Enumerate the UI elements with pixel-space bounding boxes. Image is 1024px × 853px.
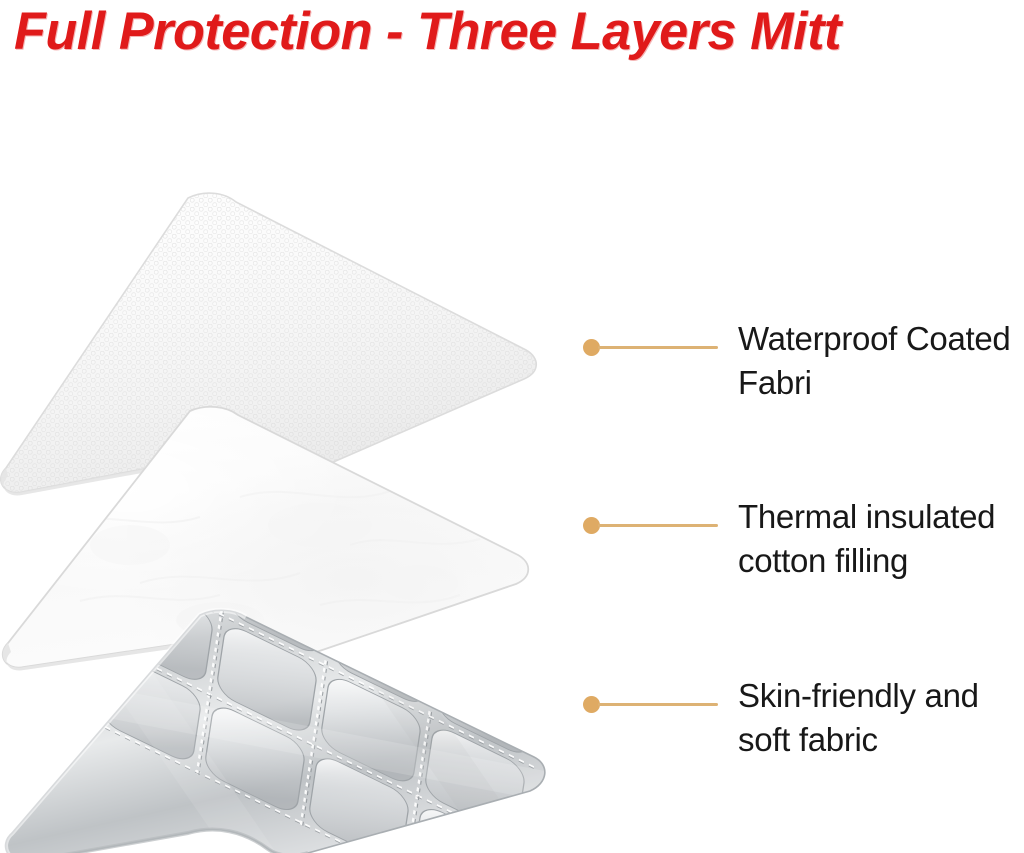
layer-bottom-graphic — [0, 605, 566, 853]
layer-stack-illustration — [0, 150, 600, 850]
page-title: Full Protection - Three Layers Mitt — [14, 2, 995, 64]
layer-silver-quilted-fabric — [0, 605, 566, 853]
callout-leader-line — [598, 703, 718, 706]
callout-label-1: Waterproof Coated Fabri — [738, 317, 1024, 405]
callout-label-2: Thermal insulated cotton filling — [738, 495, 1024, 583]
infographic-page: Full Protection - Three Layers Mitt — [0, 0, 1024, 853]
callout-label-3: Skin-friendly and soft fabric — [738, 674, 1024, 762]
callout-leader-line — [598, 346, 718, 349]
callout-leader-line — [598, 524, 718, 527]
